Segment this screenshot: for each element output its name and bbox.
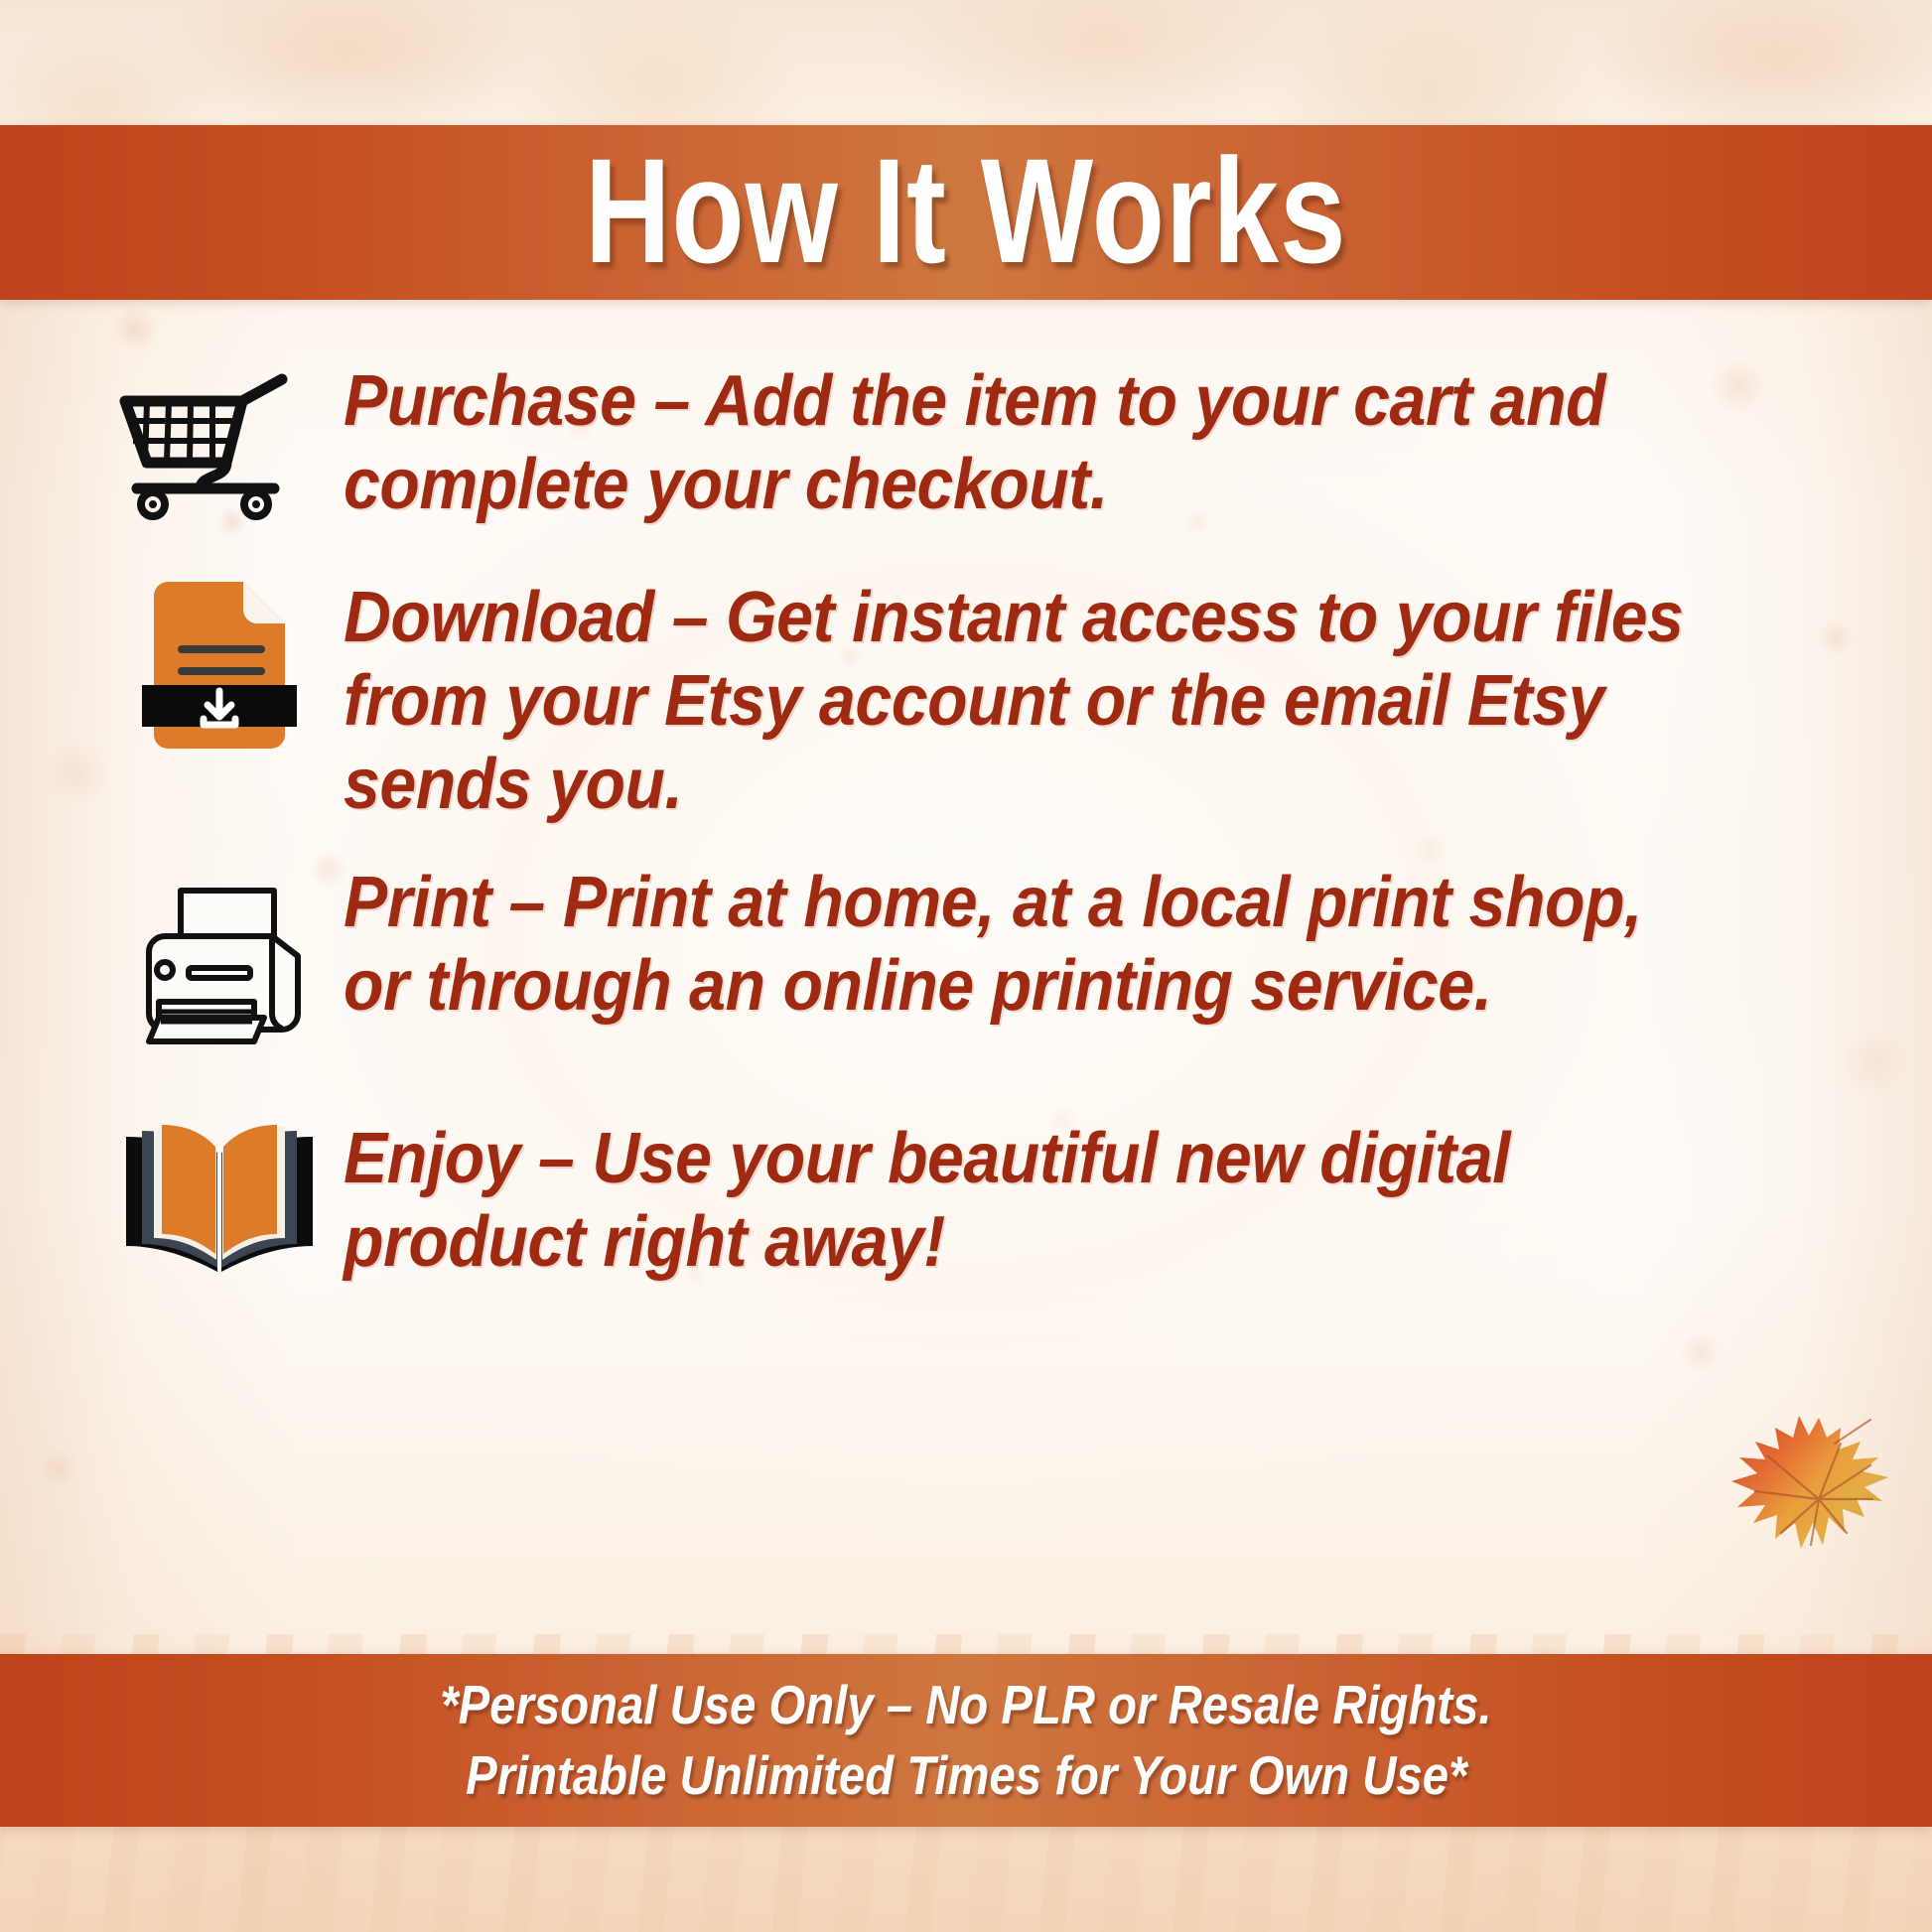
open-book-icon [95, 1109, 344, 1288]
step-item-purchase: Purchase – Add the item to your cart and… [95, 351, 1837, 540]
title-band: How It Works [0, 125, 1932, 300]
poster-canvas: How It Works [0, 0, 1932, 1932]
step-item-print: Print – Print at home, at a local print … [95, 853, 1837, 1081]
step-text-download: Download – Get instant access to your fi… [344, 568, 1718, 827]
step-item-download: Download – Get instant access to your fi… [95, 568, 1837, 827]
step-item-enjoy: Enjoy – Use your beautiful new digital p… [95, 1109, 1837, 1288]
step-text-print: Print – Print at home, at a local print … [344, 853, 1718, 1028]
footer-line-2: Printable Unlimited Times for Your Own U… [466, 1740, 1466, 1812]
page-title: How It Works [585, 136, 1346, 285]
printer-icon [95, 853, 344, 1081]
download-file-icon [95, 568, 344, 776]
step-text-purchase: Purchase – Add the item to your cart and… [344, 351, 1718, 526]
step-text-enjoy: Enjoy – Use your beautiful new digital p… [344, 1109, 1718, 1284]
steps-list: Purchase – Add the item to your cart and… [95, 324, 1837, 1634]
footer-band: *Personal Use Only – No PLR or Resale Ri… [0, 1654, 1932, 1827]
shopping-cart-icon [95, 351, 344, 540]
footer-line-1: *Personal Use Only – No PLR or Resale Ri… [440, 1670, 1491, 1741]
